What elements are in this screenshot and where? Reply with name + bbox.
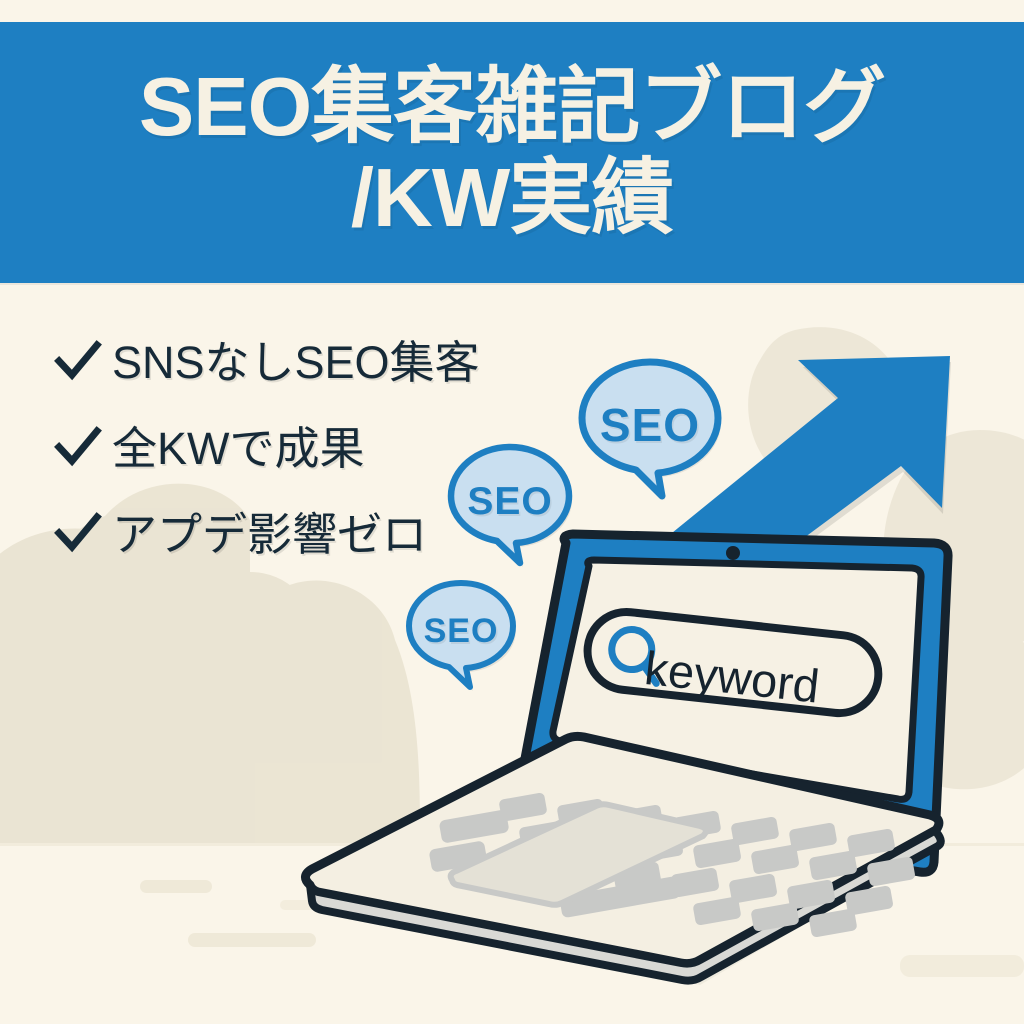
seo-speech-bubble: SEO: [404, 578, 518, 696]
speech-bubble-icon: [576, 356, 724, 508]
speech-bubble-icon: [446, 442, 574, 573]
seo-speech-bubble: SEO: [446, 442, 574, 573]
seo-speech-bubble: SEO: [576, 356, 724, 508]
speech-bubble-icon: [404, 578, 518, 696]
seo-blog-promo-graphic: SEO集客雑記ブログ /KW実績 SNSなしSEO集客 全KWで成果 アプデ影響…: [0, 0, 1024, 1024]
